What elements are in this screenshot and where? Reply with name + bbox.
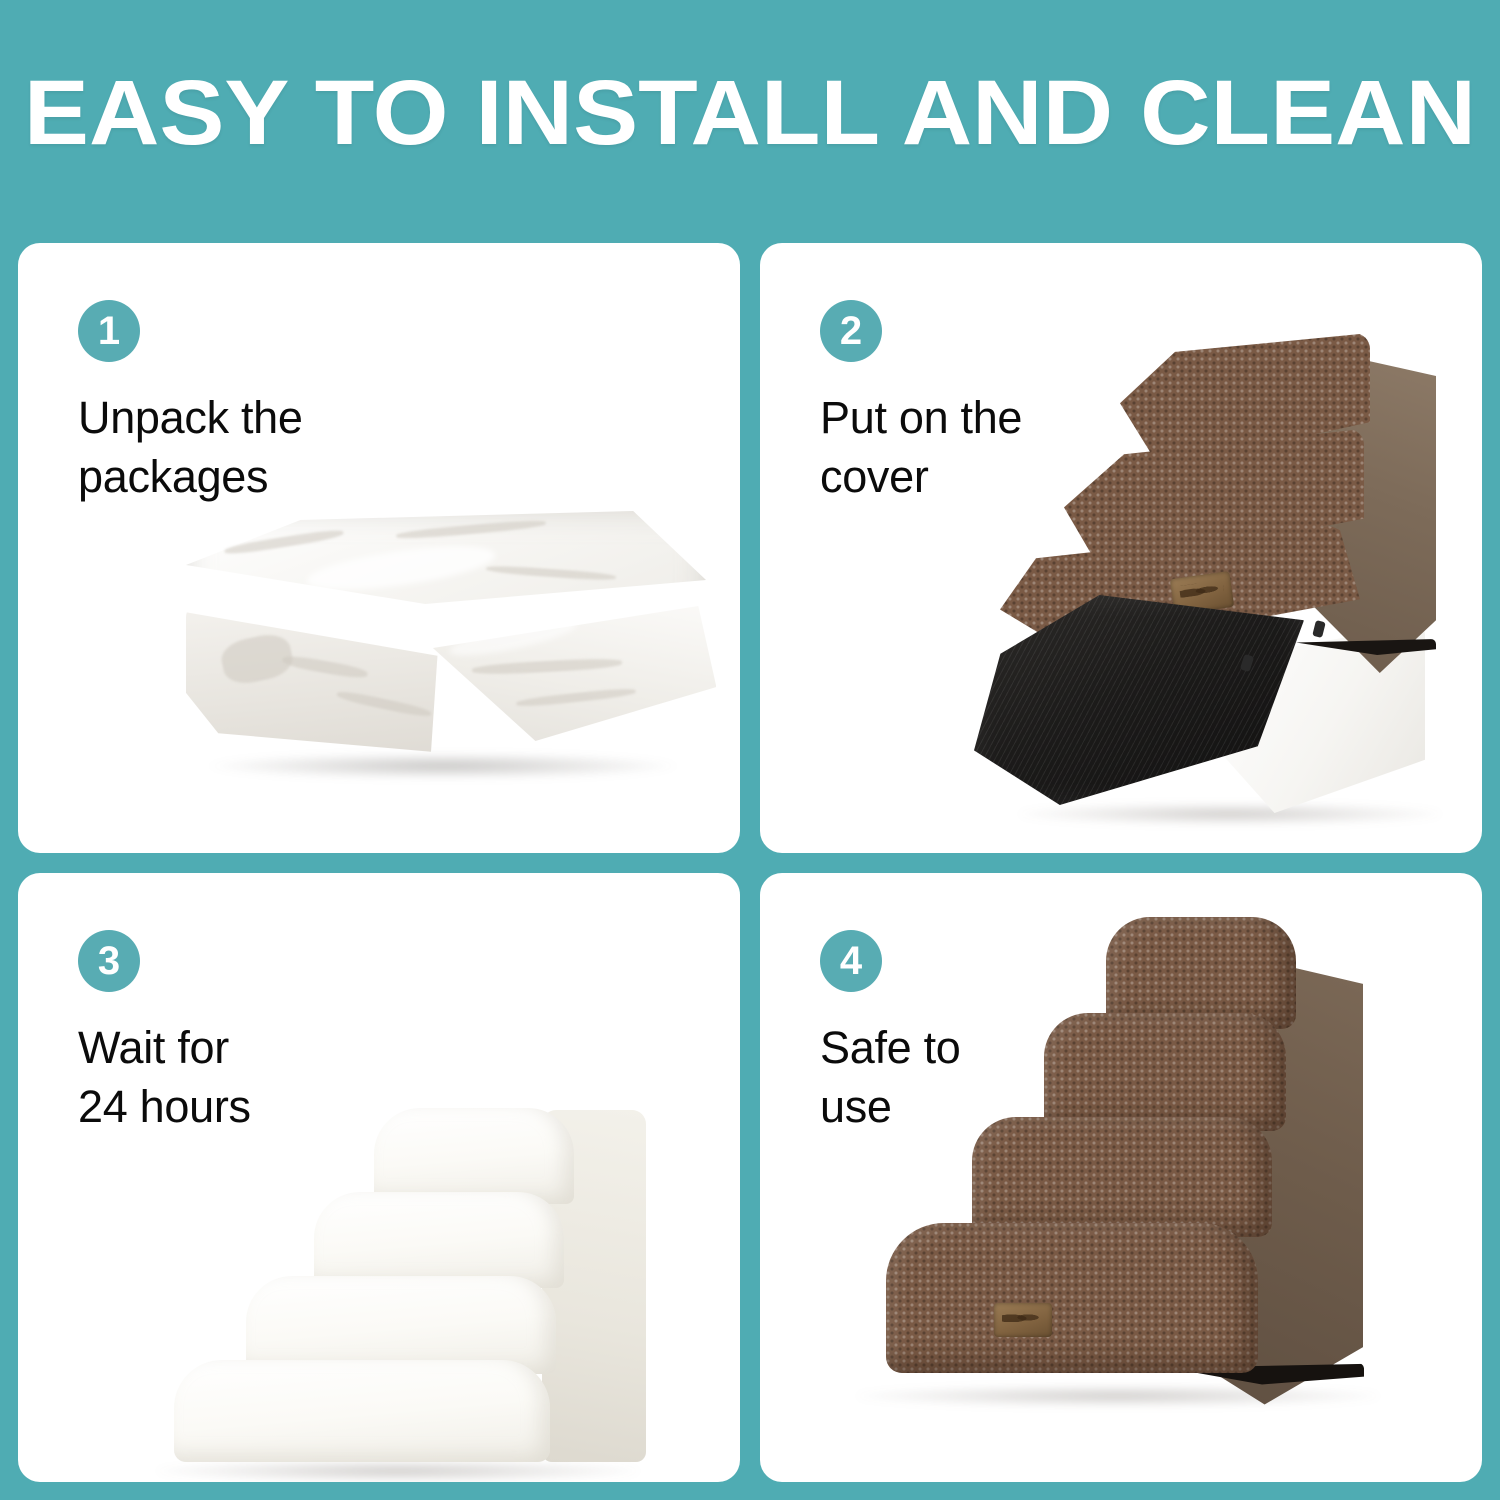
foam-step-4 [374,1108,574,1204]
vacuum-packed-foam-block [186,511,706,781]
step-caption: Safe to use [820,1018,961,1137]
step-number-badge: 3 [78,930,140,992]
brand-tag [994,1303,1052,1337]
zipper-pull-icon [1312,620,1326,638]
step-number-badge: 4 [820,930,882,992]
drop-shadow [208,753,678,779]
step-4-header: 4 Safe to use [820,930,961,1137]
page-title: EASY TO INSTALL AND CLEAN [24,67,1476,159]
brown-cover-over-foam-stairs [1060,333,1480,853]
white-foam-stairs [138,1088,658,1478]
foam-step-3 [314,1192,564,1288]
step-caption: Wait for 24 hours [78,1018,251,1137]
step-card-1: 1 Unpack the packages [18,243,740,853]
step-2-header: 2 Put on the cover [820,300,1022,507]
steps-grid: 1 Unpack the packages [18,243,1482,1482]
header-banner: EASY TO INSTALL AND CLEAN [0,0,1500,225]
step-card-4: 4 Safe to use [760,873,1482,1483]
step-number-badge: 1 [78,300,140,362]
stairs-step-1 [886,1223,1258,1373]
stairs-step-4 [1106,917,1296,1029]
drop-shadow [158,1460,638,1482]
step-3-header: 3 Wait for 24 hours [78,930,251,1137]
step-caption: Put on the cover [820,388,1022,507]
step-1-header: 1 Unpack the packages [78,300,303,507]
stairs-step-2 [972,1117,1272,1237]
drop-shadow [858,1385,1378,1407]
step-card-2: 2 Put on the cover [760,243,1482,853]
step-card-3: 24 3 Wait for 24 hours [18,873,740,1483]
foam-step-1 [174,1360,550,1462]
foam-step-2 [246,1276,556,1374]
step-number-badge: 2 [820,300,882,362]
stairs-step-3 [1044,1013,1286,1131]
infographic-page: EASY TO INSTALL AND CLEAN [0,0,1500,1500]
step-caption: Unpack the packages [78,388,303,507]
drop-shadow [1020,803,1440,825]
